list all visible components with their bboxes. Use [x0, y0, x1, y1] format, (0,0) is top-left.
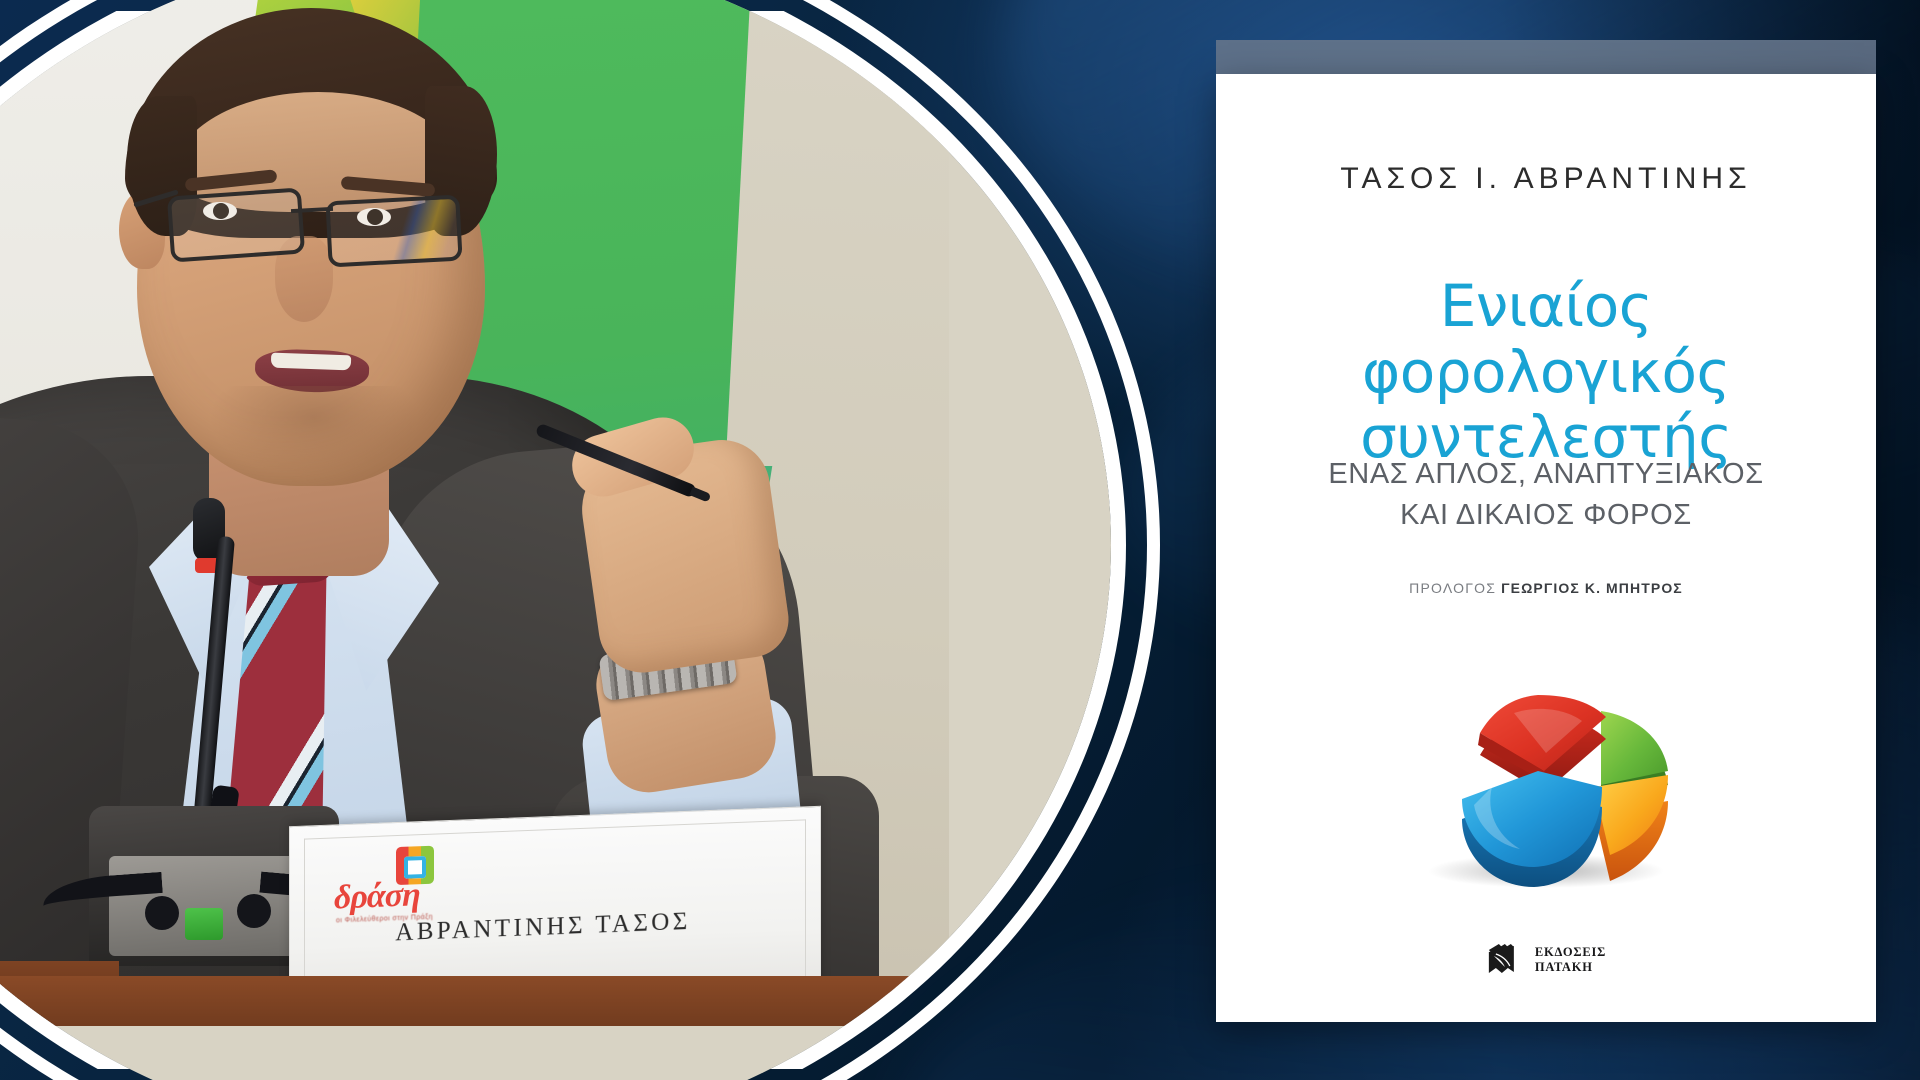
patakis-book-icon [1486, 940, 1526, 980]
publisher-logo: ΕΚΔΟΣΕΙΣ ΠΑΤΑΚΗ [1486, 940, 1606, 980]
photo-disc-group: νικ ή [0, 0, 1160, 1080]
speaker-photo: νικ ή [0, 0, 1111, 1080]
book-subtitle-line-2: ΚΑΙ ΔΙΚΑΙΟΣ ΦΟΡΟΣ [1264, 495, 1828, 536]
publisher-name-line-2: ΠΑΤΑΚΗ [1535, 960, 1606, 975]
publisher-name-line-1: ΕΚΔΟΣΕΙΣ [1535, 945, 1606, 960]
book-cover[interactable]: ΤΑΣΟΣ Ι. ΑΒΡΑΝΤΙΝΗΣ Ενιαίος φορολογικός … [1216, 74, 1876, 1022]
poster-canvas: νικ ή [0, 0, 1920, 1080]
book-author: ΤΑΣΟΣ Ι. ΑΒΡΑΝΤΙΝΗΣ [1216, 162, 1876, 196]
book-subtitle-line-1: ΕΝΑΣ ΑΠΛΟΣ, ΑΝΑΠΤΥΞΙΑΚΟΣ [1264, 454, 1828, 495]
book-prologue-credit: ΠΡΟΛΟΓΟΣ ΓΕΩΡΓΙΟΣ Κ. ΜΠΗΤΡΟΣ [1216, 580, 1876, 596]
book-title: Ενιαίος φορολογικός συντελεστής [1252, 274, 1840, 471]
prologue-label: ΠΡΟΛΟΓΟΣ [1409, 580, 1496, 596]
book-subtitle: ΕΝΑΣ ΑΠΛΟΣ, ΑΝΑΠΤΥΞΙΑΚΟΣ ΚΑΙ ΔΙΚΑΙΟΣ ΦΟΡ… [1264, 454, 1828, 536]
drasi-logo-word: δράση [334, 876, 420, 917]
lens-right [325, 195, 462, 268]
desk-surface [0, 976, 949, 1026]
pie-chart-illustration [1396, 659, 1696, 899]
prologue-author-name: ΓΕΩΡΓΙΟΣ Κ. ΜΠΗΤΡΟΣ [1501, 580, 1683, 596]
teeth [271, 353, 351, 371]
eyeglasses-icon [167, 182, 467, 250]
microphone-power-button[interactable] [185, 908, 223, 940]
pie-chart-icon [1396, 659, 1696, 899]
book-title-line-1: Ενιαίος φορολογικός [1252, 274, 1840, 405]
lens-left [167, 187, 305, 262]
chin-shadow [209, 386, 419, 476]
publisher-name: ΕΚΔΟΣΕΙΣ ΠΑΤΑΚΗ [1535, 945, 1606, 975]
drasi-logo: δράση οι Φιλελεύθεροι στην Πράξη [334, 848, 474, 925]
